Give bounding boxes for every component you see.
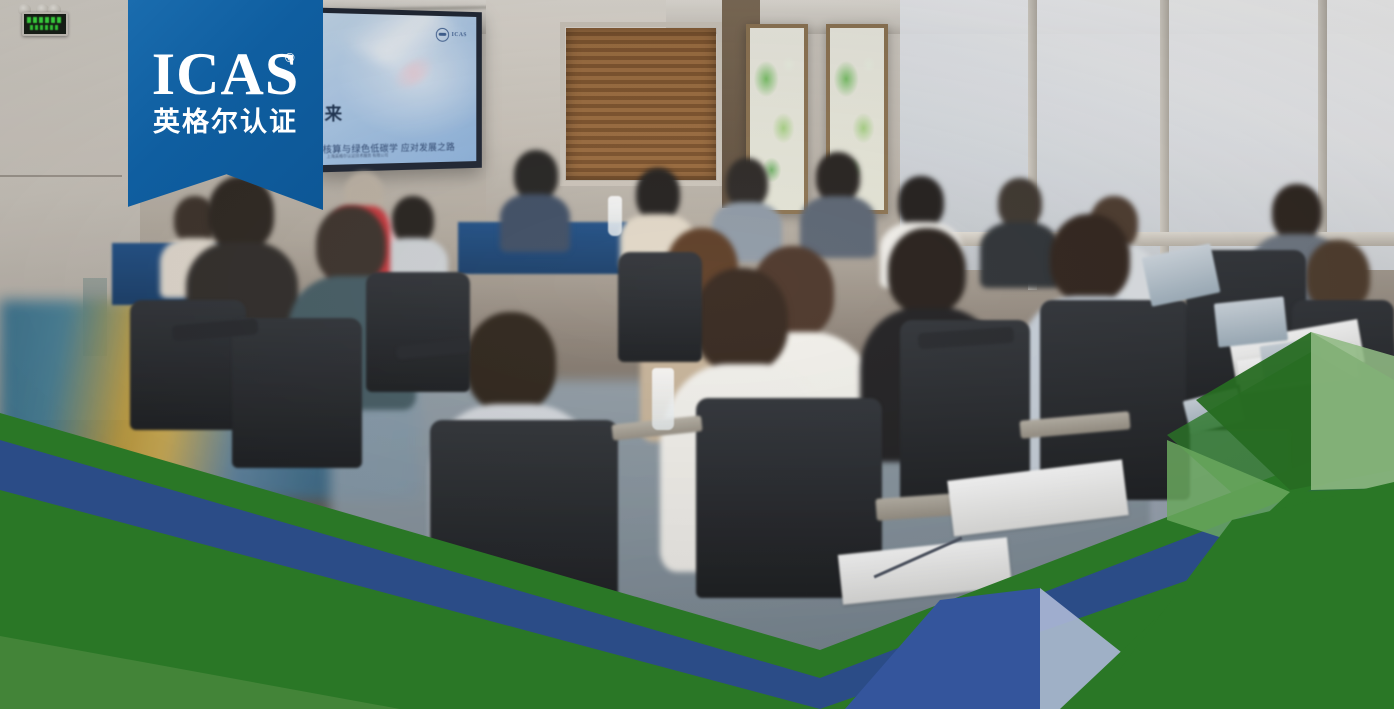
chair — [430, 420, 618, 620]
slide-title: 来 — [325, 99, 343, 125]
window-frame — [560, 22, 722, 186]
laptop-device — [1214, 296, 1288, 347]
chair — [130, 300, 246, 430]
chair — [618, 252, 702, 362]
slide-footnote: 上海英格尔认证技术服务 有限公司 — [327, 152, 389, 160]
slide-logo-text: ICAS — [452, 32, 467, 38]
registered-trademark-icon: ® — [285, 50, 295, 65]
wall-seam — [0, 175, 122, 177]
icas-event-banner: ICAS 来 核算与绿色低碳学 应对发展之路 上海英格尔认证技术服务 有限公司 — [0, 0, 1394, 709]
slide-logo-mark — [435, 28, 448, 42]
exit-sign-icon — [22, 12, 68, 36]
chair — [232, 318, 362, 468]
person — [500, 150, 570, 250]
icas-chinese-name: 英格尔认证 — [153, 100, 298, 139]
icas-wordmark: ICAS — [152, 44, 299, 104]
phone-device — [1260, 338, 1325, 386]
water-bottle — [608, 196, 622, 236]
water-bottle — [652, 368, 674, 430]
chair — [366, 272, 470, 392]
projection-screen: ICAS 来 核算与绿色低碳学 应对发展之路 上海英格尔认证技术服务 有限公司 — [317, 8, 481, 173]
slide-logo: ICAS — [435, 28, 466, 42]
